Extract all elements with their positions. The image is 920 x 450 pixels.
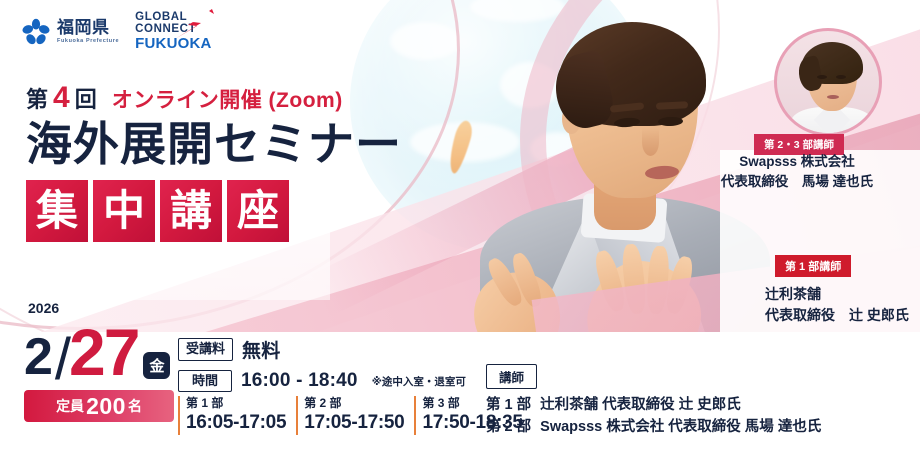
fee-row: 受講料 無料 — [178, 336, 466, 363]
speaker-name-part23: Swapsss 株式会社 代表取締役 馬場 達也氏 — [702, 152, 892, 191]
speaker-company: Swapsss 株式会社 — [702, 152, 892, 172]
speaker-part: 第 1 部 — [486, 397, 531, 413]
event-info-block: 受講料 無料 時間 16:00 - 18:40 ※途中入室・退室可 — [178, 336, 466, 399]
edition-number: 4 — [53, 83, 70, 113]
speaker-list-item: 第 2 部 Swapsss 株式会社 代表取締役 馬場 達也氏 — [486, 416, 821, 438]
kanji-box: 集 — [26, 180, 88, 242]
speaker-part: 第 2 部 — [486, 419, 531, 435]
edition-suffix: 回 — [75, 82, 97, 114]
time-label: 時間 — [178, 370, 232, 392]
fukuoka-prefecture-logo: 福岡県 Fukuoka Prefecture — [22, 18, 119, 46]
gc-line-global: GLOBAL — [135, 12, 211, 24]
kanji-box: 座 — [227, 180, 289, 242]
session-time: 16:05-17:05 — [186, 411, 286, 435]
prefecture-kanji: 福岡県 — [57, 19, 119, 36]
edition-row: 第 4 回 オンライン開催 (Zoom) — [26, 82, 402, 114]
date-block: 2026 2 / 27 金 定員 200 名 — [24, 300, 174, 422]
subtitle-kanji-boxes: 集 中 講 座 — [26, 180, 402, 242]
session-item: 第 2 部 17:05-17:50 — [296, 396, 414, 435]
session-schedule: 第 1 部 16:05-17:05 第 2 部 17:05-17:50 第 3 … — [178, 396, 533, 435]
time-value: 16:00 - 18:40 — [241, 370, 358, 392]
speaker-company: 辻利茶舗 — [765, 284, 909, 305]
day-of-week-badge: 金 — [143, 352, 170, 379]
online-format-label: オンライン開催 (Zoom) — [112, 84, 343, 114]
kanji-box: 中 — [93, 180, 155, 242]
event-day: 27 — [69, 323, 138, 382]
global-connect-fukuoka-logo: GLOBAL CONNECT FUKUOKA — [135, 12, 211, 51]
title-block: 第 4 回 オンライン開催 (Zoom) 海外展開セミナー 集 中 講 座 — [26, 82, 402, 242]
time-row: 時間 16:00 - 18:40 ※途中入室・退室可 — [178, 370, 466, 392]
capacity-badge: 定員 200 名 — [24, 390, 174, 422]
session-item: 第 1 部 16:05-17:05 — [178, 396, 296, 435]
session-label: 第 2 部 — [304, 396, 404, 411]
capacity-number: 200 — [86, 393, 126, 420]
fee-value: 無料 — [242, 336, 280, 363]
gc-line-connect: CONNECT — [135, 24, 211, 36]
date-slash: / — [55, 334, 71, 386]
event-month: 2 — [24, 333, 53, 382]
speaker-list-label: 講師 — [486, 364, 537, 389]
session-label: 第 1 部 — [186, 396, 286, 411]
speaker-title-name: 代表取締役 辻 史郎氏 — [765, 305, 909, 326]
time-note: ※途中入室・退室可 — [372, 374, 466, 389]
fee-label: 受講料 — [178, 338, 233, 360]
speaker-title-name: 代表取締役 馬場 達也氏 — [702, 172, 892, 192]
capacity-label: 定員 — [56, 396, 84, 416]
prefecture-romaji: Fukuoka Prefecture — [57, 39, 119, 45]
speaker-photo-tsuji — [470, 0, 770, 400]
speaker-list-block: 講師 第 1 部 辻利茶舗 代表取締役 辻 史郎氏 第 2 部 Swapsss … — [486, 364, 821, 439]
speaker-list-item: 第 1 部 辻利茶舗 代表取締役 辻 史郎氏 — [486, 394, 821, 416]
gc-line-fukuoka: FUKUOKA — [135, 36, 211, 51]
seminar-banner: 福岡県 Fukuoka Prefecture GLOBAL CONNECT FU… — [0, 0, 920, 450]
speaker-detail: Swapsss 株式会社 代表取締役 馬場 達也氏 — [540, 419, 821, 435]
speaker-portrait-baba — [774, 28, 882, 136]
logo-bar: 福岡県 Fukuoka Prefecture GLOBAL CONNECT FU… — [22, 12, 212, 51]
session-time: 17:05-17:50 — [304, 411, 404, 435]
speaker-detail: 辻利茶舗 代表取締役 辻 史郎氏 — [540, 397, 741, 413]
kanji-box: 講 — [160, 180, 222, 242]
flower-mark-icon — [22, 18, 50, 46]
page-title: 海外展開セミナー — [26, 120, 402, 170]
event-date-row: 2 / 27 金 — [24, 312, 174, 382]
speaker-badge-part1: 第 1 部講師 — [775, 255, 851, 277]
capacity-unit: 名 — [128, 396, 142, 416]
speaker-name-part1: 辻利茶舗 代表取締役 辻 史郎氏 — [765, 284, 909, 326]
edition-prefix: 第 — [26, 82, 48, 114]
